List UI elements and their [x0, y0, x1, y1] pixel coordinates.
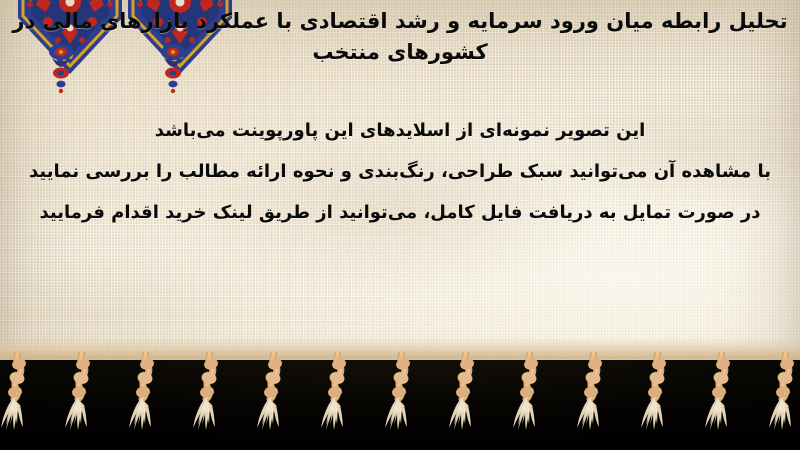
body-line-3: در صورت تمایل به دریافت فایل کامل، می‌تو… [0, 192, 800, 233]
carpet-fringe-row [0, 340, 800, 450]
carpet-tassel-icon [188, 352, 228, 436]
body-line-2: با مشاهده آن می‌توانید سبک طراحی، رنگ‌بن… [0, 151, 800, 192]
carpet-tassel-icon [764, 352, 800, 436]
carpet-tassel-icon [380, 352, 420, 436]
slide-title: تحلیل رابطه میان ورود سرمایه و رشد اقتصا… [0, 6, 800, 68]
carpet-tassel-icon [60, 352, 100, 436]
carpet-tassel-icon [316, 352, 356, 436]
carpet-tassel-icon [444, 352, 484, 436]
carpet-tassel-icon [572, 352, 612, 436]
title-line-1: تحلیل رابطه میان ورود سرمایه و رشد اقتصا… [196, 9, 788, 33]
slide-canvas: تحلیل رابطه میان ورود سرمایه و رشد اقتصا… [0, 0, 800, 450]
carpet-tassel-icon [124, 352, 164, 436]
slide-body: این تصویر نمونه‌ای از اسلایدهای این پاور… [0, 110, 800, 233]
body-line-1: این تصویر نمونه‌ای از اسلایدهای این پاور… [0, 110, 800, 151]
carpet-tassel-icon [0, 352, 36, 436]
carpet-tassel-icon [700, 352, 740, 436]
carpet-tassel-icon [508, 352, 548, 436]
carpet-tassel-icon [252, 352, 292, 436]
carpet-tassel-icon [636, 352, 676, 436]
